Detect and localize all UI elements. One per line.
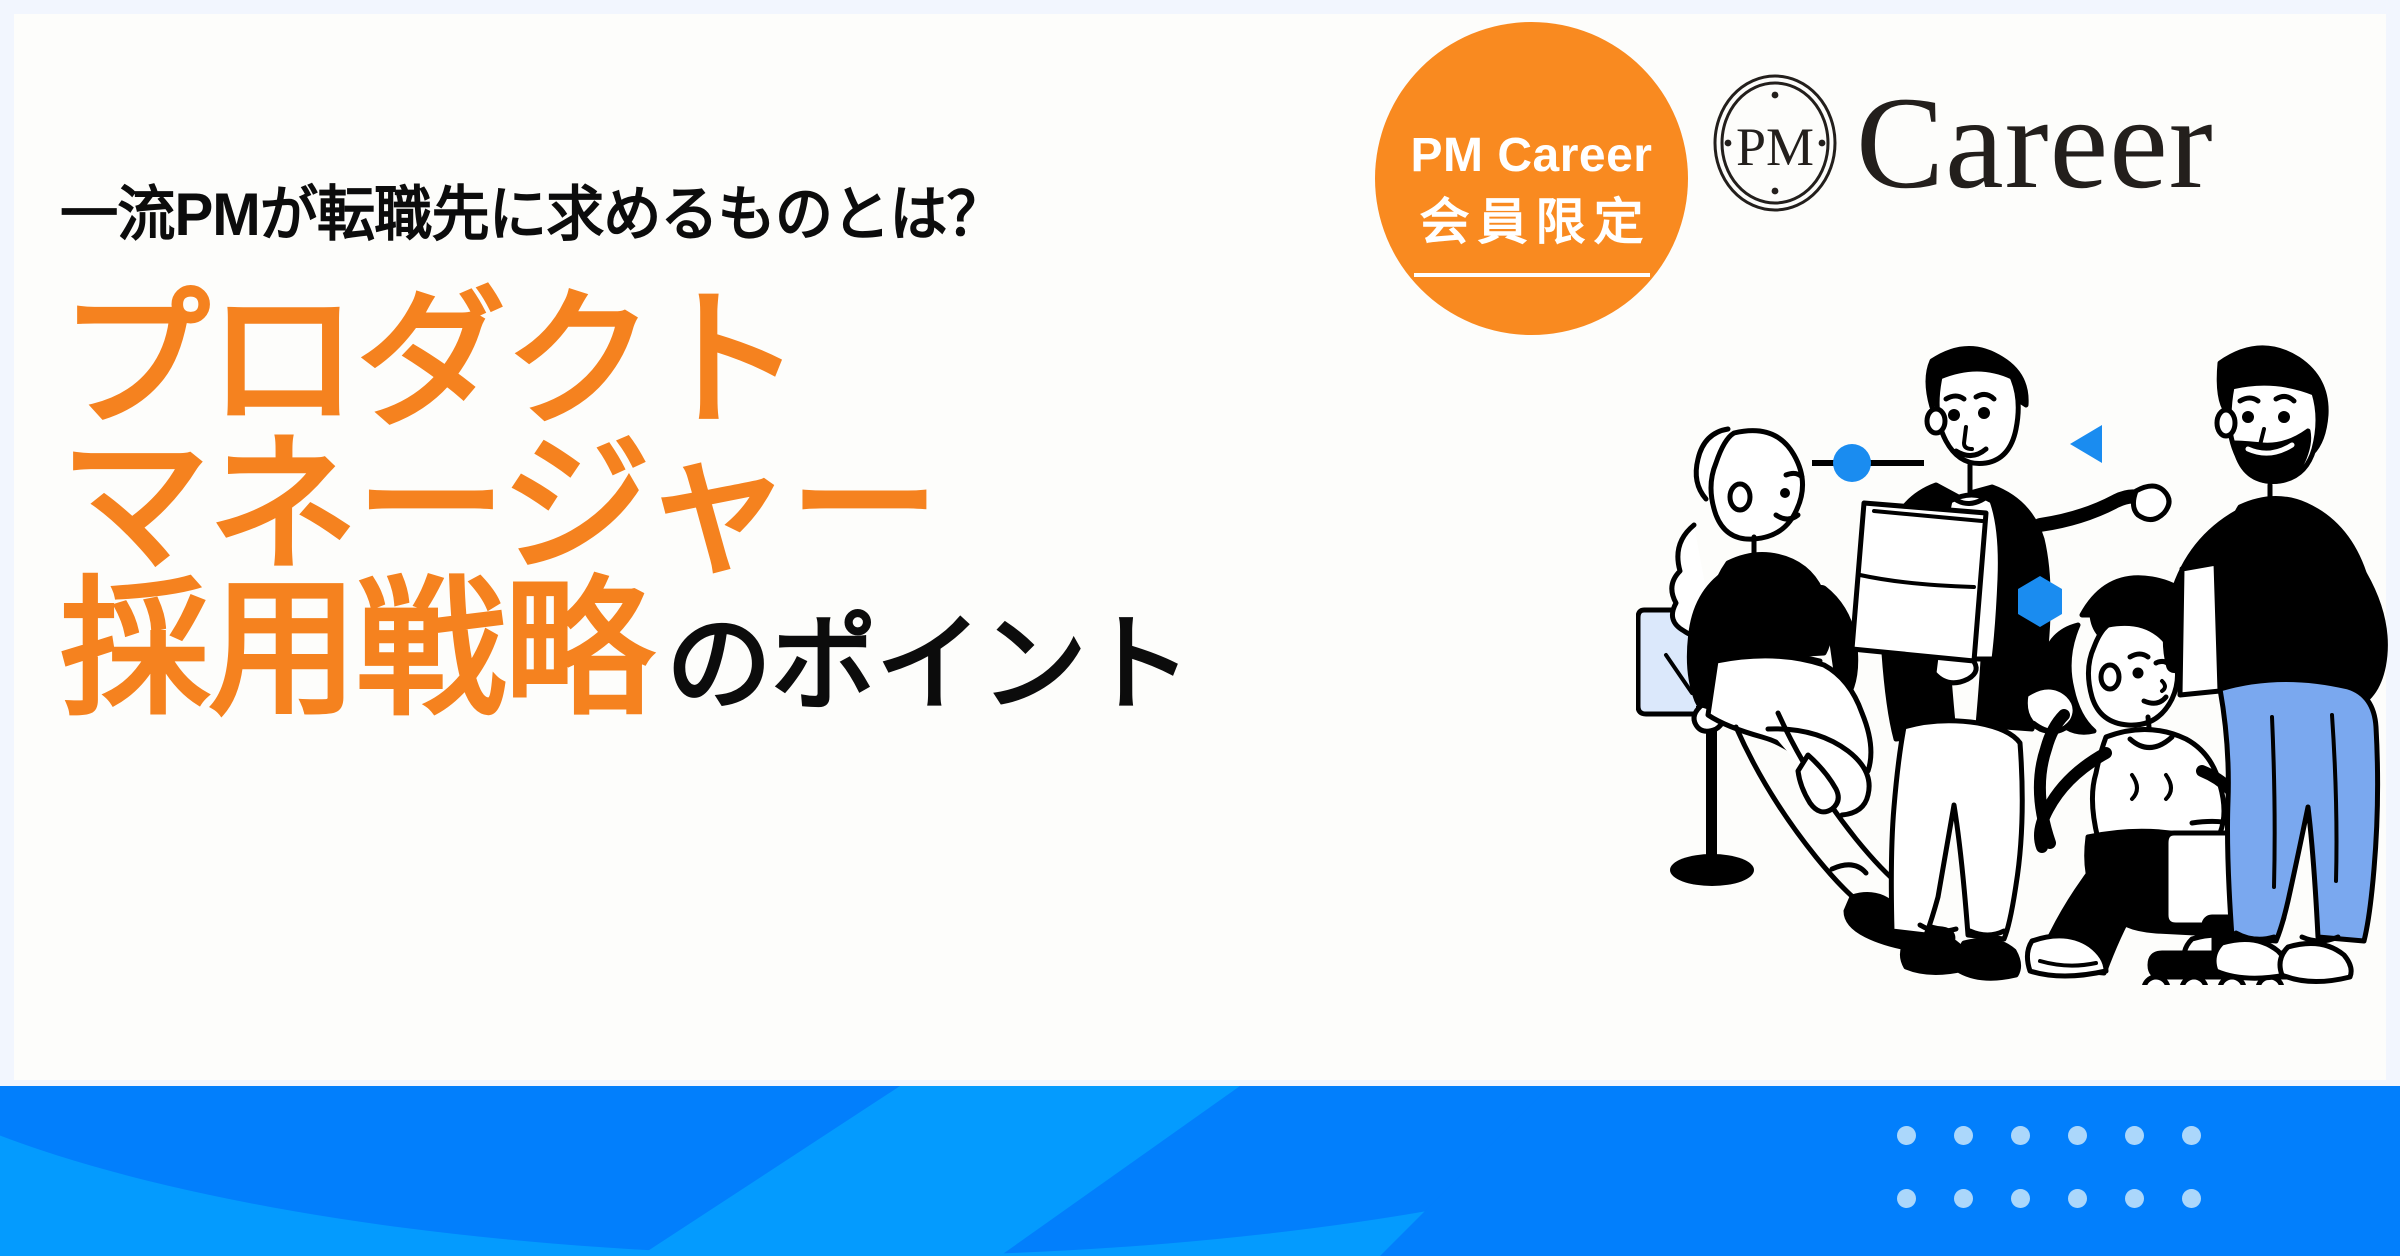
headline-line-3-black: のポイント: [652, 606, 1191, 724]
dot: [2011, 1126, 2030, 1145]
headline-line-1: プロダクト: [60, 283, 1460, 438]
members-only-badge: PM Career 会員限定: [1375, 22, 1688, 335]
dot: [1954, 1189, 1973, 1208]
team-illustration-svg: [1636, 325, 2400, 985]
pm-career-logo: PM Career: [1712, 68, 2214, 218]
headline-line-2: マネージャー: [60, 428, 1460, 583]
dot: [1897, 1189, 1916, 1208]
badge-label-members-only: 会員限定: [1412, 197, 1652, 247]
headline-subtitle: 一流PMが転職先に求めるものとは？: [60, 185, 1418, 245]
badge-underline: [1414, 273, 1650, 277]
footer-dot-grid: [1897, 1126, 2239, 1252]
dot: [2125, 1189, 2144, 1208]
dot: [2011, 1189, 2030, 1208]
svg-text:PM: PM: [1736, 117, 1814, 177]
dot: [2182, 1126, 2201, 1145]
blue-circle-accent: [1833, 444, 1871, 482]
dot: [2068, 1189, 2087, 1208]
blue-triangle-accent: [2070, 425, 2102, 463]
dot: [1897, 1126, 1916, 1145]
dot: [2182, 1189, 2201, 1208]
team-illustration: [1636, 325, 2400, 985]
dot: [1954, 1126, 1973, 1145]
logo-wordmark: Career: [1856, 77, 2214, 209]
headline-block: 一流PMが転職先に求めるものとは？ プロダクト マネージャー 採用戦略のポイント: [60, 185, 1460, 727]
badge-label-pm-career: PM Career: [1411, 132, 1653, 180]
dot: [2125, 1126, 2144, 1145]
dot: [2068, 1126, 2087, 1145]
headline-line-3-orange: 採用戦略: [60, 565, 652, 733]
pm-monogram-icon: PM: [1712, 73, 1838, 213]
headline-line-3: 採用戦略のポイント: [60, 572, 1460, 727]
banner-root: 一流PMが転職先に求めるものとは？ プロダクト マネージャー 採用戦略のポイント…: [0, 0, 2400, 1256]
